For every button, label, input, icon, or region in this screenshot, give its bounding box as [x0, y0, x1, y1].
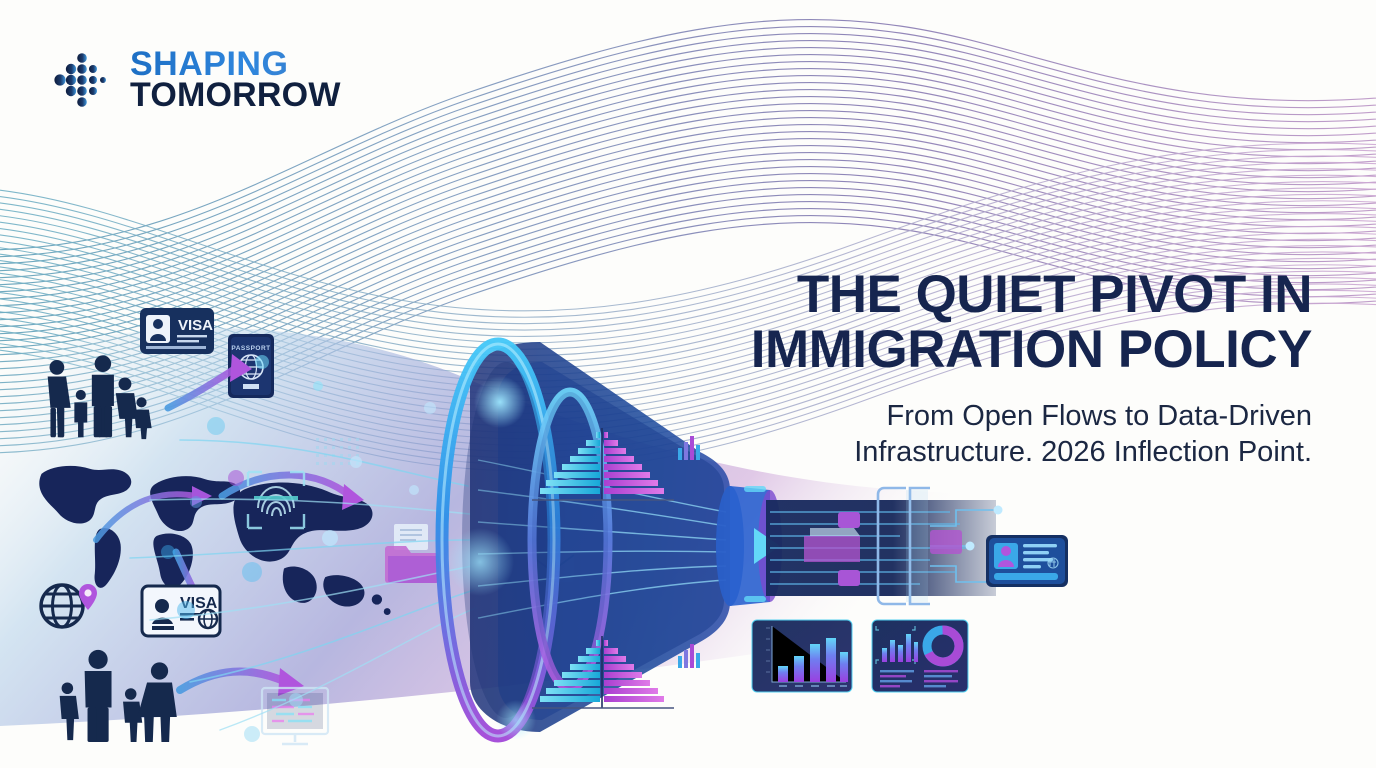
bar-chart-dashboard[interactable]	[752, 620, 852, 692]
analytics-dashboard[interactable]	[872, 620, 968, 692]
data-pipeline	[766, 488, 1003, 604]
visa-card-icon: VISA	[140, 308, 214, 354]
svg-text:VISA: VISA	[178, 317, 213, 334]
digital-id-card-icon[interactable]	[986, 535, 1068, 587]
immigration-data-funnel-illustration: VISA PASSPORT	[0, 290, 1110, 768]
logo-text-line2: TOMORROW	[130, 80, 341, 111]
poster-canvas: SHAPING TOMORROW THE QUIET PIVOT IN IMMI…	[0, 0, 1376, 768]
brand-logo[interactable]: SHAPING TOMORROW	[54, 48, 341, 112]
dot-arrow-logo-icon	[54, 48, 116, 112]
svg-text:PASSPORT: PASSPORT	[231, 345, 270, 352]
